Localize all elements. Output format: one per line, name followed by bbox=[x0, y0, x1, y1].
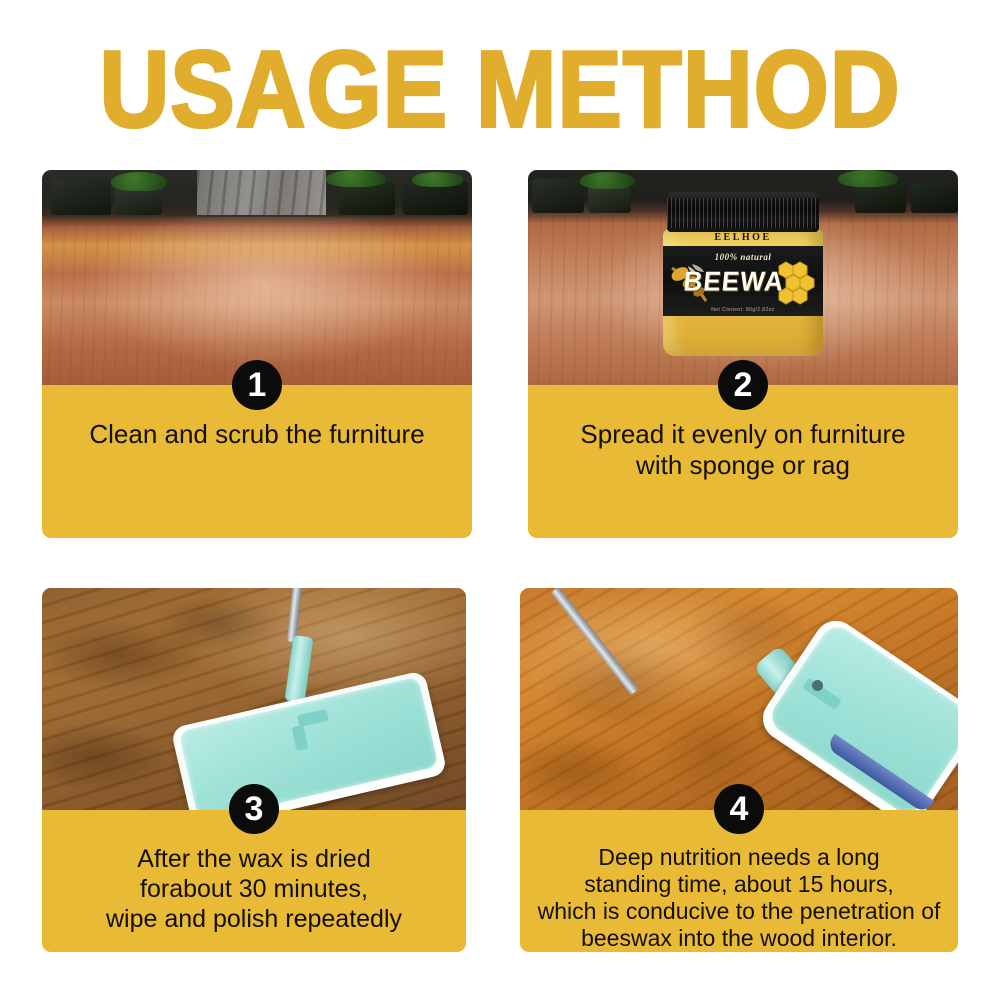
beewax-jar: EELHOE 100% natural BEEWAX bbox=[663, 192, 823, 357]
leaf-icon bbox=[580, 172, 636, 189]
step-card-4: 4 Deep nutrition needs a long standing t… bbox=[520, 588, 958, 952]
jar-label: 100% natural BEEWAX Net Content: 80g/2.8… bbox=[663, 246, 823, 316]
plant-pot-icon bbox=[532, 179, 584, 213]
mop-hinge bbox=[812, 680, 823, 691]
step-1-photo bbox=[42, 170, 472, 385]
step-card-3: 3 After the wax is dried forabout 30 min… bbox=[42, 588, 466, 952]
step-number-badge: 3 bbox=[229, 784, 279, 834]
cloth-backdrop bbox=[197, 170, 326, 215]
jar-brand-text: EELHOE bbox=[663, 232, 823, 243]
leaf-icon bbox=[412, 172, 464, 187]
step-3-photo bbox=[42, 588, 466, 810]
step-2-caption: 2 Spread it evenly on furniture with spo… bbox=[528, 385, 958, 481]
jar-net-content-text: Net Content: 80g/2.82oz bbox=[663, 307, 823, 313]
step-caption-text: After the wax is dried forabout 30 minut… bbox=[42, 844, 466, 934]
jar-lid bbox=[667, 192, 819, 232]
step-3-caption: 3 After the wax is dried forabout 30 min… bbox=[42, 810, 466, 934]
page-title: USAGE METHOD bbox=[35, 36, 965, 144]
plant-pot-icon bbox=[339, 183, 395, 215]
step-caption-text: Deep nutrition needs a long standing tim… bbox=[520, 844, 958, 952]
leaf-icon bbox=[111, 172, 167, 191]
plant-pot-icon bbox=[588, 187, 631, 213]
leaf-icon bbox=[838, 170, 898, 187]
step-number-badge: 1 bbox=[232, 360, 282, 410]
step-caption-text: Clean and scrub the furniture bbox=[42, 419, 472, 450]
step-number-badge: 4 bbox=[714, 784, 764, 834]
leaf-icon bbox=[326, 170, 386, 187]
step-4-caption: 4 Deep nutrition needs a long standing t… bbox=[520, 810, 958, 952]
honeycomb-icon bbox=[772, 258, 816, 306]
step-card-1: 1 Clean and scrub the furniture bbox=[42, 170, 472, 538]
step-4-photo bbox=[520, 588, 958, 810]
plant-pot-icon bbox=[911, 183, 958, 213]
step-number-badge: 2 bbox=[718, 360, 768, 410]
plant-pot-icon bbox=[51, 179, 111, 216]
step-1-caption: 1 Clean and scrub the furniture bbox=[42, 385, 472, 450]
step-card-2: EELHOE 100% natural BEEWAX bbox=[528, 170, 958, 538]
step-caption-text: Spread it evenly on furniture with spong… bbox=[528, 419, 958, 481]
plant-pot-icon bbox=[115, 187, 162, 215]
step-2-photo: EELHOE 100% natural BEEWAX bbox=[528, 170, 958, 385]
